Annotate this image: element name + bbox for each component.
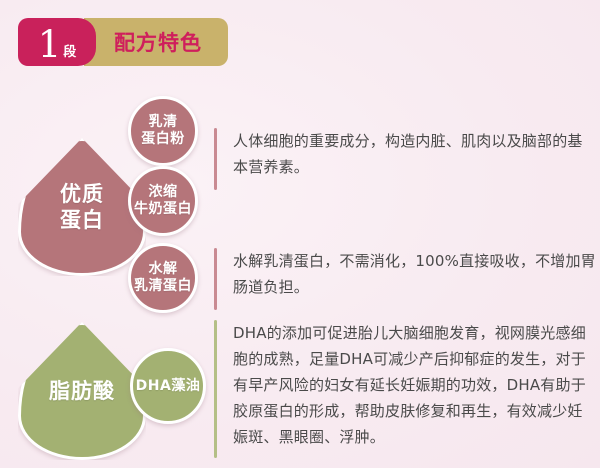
segment-number: 1 [34,26,62,64]
segment-badge: 1 段 [18,18,96,66]
badge-whey-protein-powder-label: 乳清 蛋白粉 [141,114,185,148]
badge-milk-line1: 浓缩 [149,184,178,200]
badge-hydrolyzed-whey-label: 水解 乳清蛋白 [134,261,192,295]
accent-bar-protein [214,128,217,190]
header: 1 段 配方特色 [18,18,228,66]
drop-protein-label-line2: 蛋白 [60,208,104,232]
drop-fatty-acid: 脂肪酸 [18,322,146,460]
accent-bar-hydrolyzed-whey [214,248,217,310]
segment-unit: 段 [61,45,80,64]
badge-whey-line2: 蛋白粉 [141,131,185,147]
badge-dha-algae-oil: DHA藻油 [130,348,206,424]
description-protein-text: 人体细胞的重要成分，构造内脏、肌肉以及脑部的基本营养素。 [233,128,597,190]
title-bar: 配方特色 [84,18,228,66]
description-hydrolyzed-whey-text: 水解乳清蛋白，不需消化，100%直接吸收，不增加胃肠道负担。 [233,248,597,310]
badge-hydrolyzed-whey-protein: 水解 乳清蛋白 [128,243,198,313]
drop-protein: 优质 蛋白 [18,138,146,276]
description-hydrolyzed-whey: 水解乳清蛋白，不需消化，100%直接吸收，不增加胃肠道负担。 [214,248,597,310]
infographic-page: 1 段 配方特色 优质 蛋白 脂肪酸 乳清 蛋白粉 浓缩 牛奶蛋白 水解 [0,0,600,468]
badge-whey-line1: 乳清 [149,114,178,130]
badge-concentrated-milk-protein: 浓缩 牛奶蛋白 [128,166,198,236]
description-protein: 人体细胞的重要成分，构造内脏、肌肉以及脑部的基本营养素。 [214,128,597,190]
badge-hydrolyzed-line2: 乳清蛋白 [134,278,192,294]
description-dha-text: DHA的添加可促进胎儿大脑细胞发育，视网膜光感细胞的成熟，足量DHA可减少产后抑… [233,320,597,458]
badge-whey-protein-powder: 乳清 蛋白粉 [128,96,198,166]
drop-protein-label-line1: 优质 [60,182,104,206]
badge-hydrolyzed-line1: 水解 [149,261,178,277]
drop-fatty-acid-label-line1: 脂肪酸 [49,379,115,403]
badge-milk-line2: 牛奶蛋白 [134,201,192,217]
badge-milk-protein-label: 浓缩 牛奶蛋白 [134,184,192,218]
page-title: 配方特色 [114,27,202,57]
badge-dha-algae-oil-label: DHA藻油 [136,378,201,395]
accent-bar-dha [214,320,217,458]
description-dha: DHA的添加可促进胎儿大脑细胞发育，视网膜光感细胞的成熟，足量DHA可减少产后抑… [214,320,597,458]
drop-fatty-acid-label: 脂肪酸 [49,378,115,404]
drop-protein-label: 优质 蛋白 [60,181,104,233]
